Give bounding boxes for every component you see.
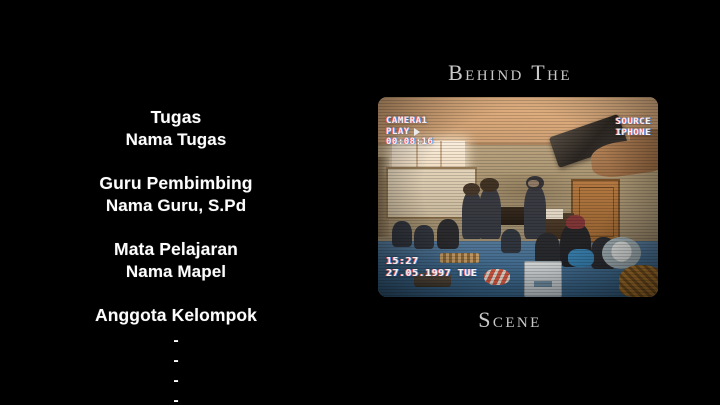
- person-face: [528, 180, 539, 187]
- credit-group-anggota: Anggota Kelompok - - - -: [16, 304, 336, 405]
- person-head: [480, 178, 498, 192]
- osd-source-value: IPHONE: [615, 128, 651, 139]
- list-item: -: [16, 331, 336, 351]
- paper-sheet: [546, 209, 563, 219]
- member-list: - - - -: [16, 331, 336, 405]
- floor-object-box: [524, 261, 562, 297]
- list-item: -: [16, 371, 336, 391]
- seated-person: [437, 219, 459, 249]
- osd-bottom-left: 15:27 27.05.1997 TUE: [386, 256, 477, 280]
- seated-person: [392, 221, 412, 247]
- list-item: -: [16, 391, 336, 405]
- play-triangle-icon: [414, 128, 420, 136]
- credit-group-guru: Guru Pembimbing Nama Guru, S.Pd: [16, 172, 336, 218]
- osd-clock: 15:27: [386, 256, 477, 268]
- person-head: [463, 183, 480, 196]
- osd-camera-label: CAMERA1: [386, 116, 433, 127]
- credit-heading-mapel: Mata Pelajaran: [16, 238, 336, 261]
- seated-person: [501, 229, 521, 253]
- osd-play-label: PLAY: [386, 127, 410, 138]
- floor-object-basket: [619, 265, 658, 297]
- standing-person: [479, 187, 501, 239]
- credit-value-tugas: Nama Tugas: [16, 129, 336, 152]
- video-frame: CAMERA1 PLAY 00:08:16 SOURCE IPHONE 15:2…: [378, 97, 658, 297]
- credit-value-guru: Nama Guru, S.Pd: [16, 195, 336, 218]
- title-line-top: Behind The: [360, 60, 660, 86]
- credit-heading-tugas: Tugas: [16, 106, 336, 129]
- osd-play-row: PLAY: [386, 127, 433, 138]
- credit-heading-guru: Guru Pembimbing: [16, 172, 336, 195]
- title-line-bottom: Scene: [360, 307, 660, 333]
- osd-date: 27.05.1997 TUE: [386, 268, 477, 280]
- credit-value-mapel: Nama Mapel: [16, 261, 336, 284]
- credit-group-mapel: Mata Pelajaran Nama Mapel: [16, 238, 336, 284]
- video-canvas: Tugas Nama Tugas Guru Pembimbing Nama Gu…: [0, 0, 720, 405]
- osd-top-left: CAMERA1 PLAY 00:08:16: [386, 116, 433, 148]
- credit-heading-anggota: Anggota Kelompok: [16, 304, 336, 327]
- credit-group-tugas: Tugas Nama Tugas: [16, 106, 336, 152]
- list-item: -: [16, 351, 336, 371]
- osd-top-right: SOURCE IPHONE: [615, 117, 651, 138]
- person-head: [566, 215, 586, 229]
- standing-person: [524, 185, 546, 239]
- osd-timecode: 00:08:16: [386, 137, 433, 148]
- credits-panel: Tugas Nama Tugas Guru Pembimbing Nama Gu…: [16, 106, 336, 405]
- floor-object-red: [484, 269, 509, 285]
- seated-person: [414, 225, 434, 249]
- osd-source-label: SOURCE: [615, 117, 651, 128]
- floor-object-blue: [568, 249, 593, 267]
